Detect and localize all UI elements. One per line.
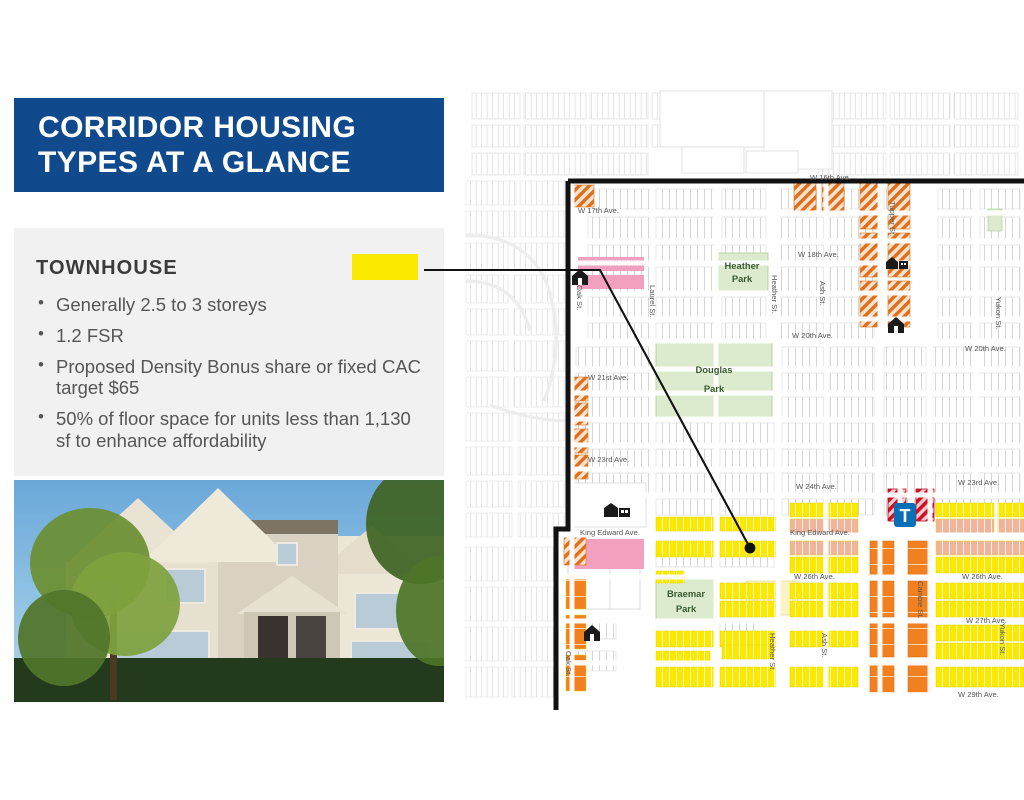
slide-root: CORRIDOR HOUSING TYPES AT A GLANCE TOWNH… — [0, 0, 1024, 800]
street-label: Yukon St. — [994, 297, 1003, 330]
title-line-2: TYPES AT A GLANCE — [38, 145, 444, 180]
left-info-panel: CORRIDOR HOUSING TYPES AT A GLANCE TOWNH… — [0, 0, 452, 800]
street-label: W 26th Ave. — [794, 572, 835, 581]
parcel-townhouse — [936, 503, 994, 517]
map-canvas: W 16th Ave. W 17th Ave. W 18th Ave. W 20… — [460, 85, 1024, 710]
townhouse-photo — [14, 480, 444, 702]
parcel-townhouse — [936, 557, 1024, 573]
street-label: Heather St. — [768, 633, 777, 671]
parcel-townhouse — [720, 667, 776, 687]
parcel-salmon — [936, 541, 1024, 555]
map-west-subdivision — [466, 181, 568, 697]
parcel-townhouse — [998, 503, 1024, 517]
bullet-item: 1.2 FSR — [36, 325, 422, 347]
street-label: King Edward Ave. — [580, 528, 640, 537]
park-label-douglas: Park — [704, 383, 725, 394]
parcel-townhouse — [656, 541, 714, 557]
photo-porch-roof — [236, 576, 348, 614]
parcel-townhouse — [656, 631, 714, 647]
street-label: W 29th Ave. — [958, 690, 999, 699]
street-label: Yukon St. — [998, 623, 1007, 656]
transit-station-label: T — [900, 506, 911, 526]
title-line-1: CORRIDOR HOUSING — [38, 110, 444, 145]
street-label: King Edward Ave. — [790, 528, 850, 537]
park-label-braemar: Braemar — [667, 588, 705, 599]
street-label: W 18th Ave. — [798, 250, 839, 259]
site-school-kingedward — [568, 483, 646, 527]
street-label: Oak St. — [575, 285, 584, 310]
card-header: TOWNHOUSE — [36, 254, 422, 280]
map-institutional-blocks — [660, 91, 832, 173]
park-heather — [716, 253, 768, 291]
parcel-townhouse — [936, 583, 1024, 599]
parcel-townhouse — [720, 517, 776, 531]
photo-window — [276, 542, 298, 566]
bullet-item: Proposed Density Bonus share or fixed CA… — [36, 356, 422, 400]
street-label: Tupper St. — [888, 201, 897, 236]
parcel-townhouse — [720, 541, 776, 557]
street-label: Heather St. — [770, 275, 779, 313]
park-label-heather: Heather — [725, 260, 760, 271]
photo-gable-b — [142, 488, 294, 562]
parcel-townhouse — [720, 601, 776, 617]
street-label: W 24th Ave. — [796, 482, 837, 491]
card-title: TOWNHOUSE — [36, 254, 178, 278]
street-label: W 26th Ave. — [962, 572, 1003, 581]
title-banner: CORRIDOR HOUSING TYPES AT A GLANCE — [14, 98, 444, 192]
parcel-townhouse — [720, 583, 776, 599]
street-label: Cambie St. — [916, 581, 925, 619]
photo-window — [354, 592, 400, 630]
transit-station-icon: T — [894, 503, 916, 527]
parcel-townhouse — [656, 517, 714, 531]
bullet-item: 50% of floor space for units less than 1… — [36, 408, 422, 452]
parcel-salmon — [998, 519, 1024, 533]
parcel-townhouse — [720, 631, 776, 647]
legend-color-swatch — [352, 254, 418, 280]
study-area-map[interactable]: W 16th Ave. W 17th Ave. W 18th Ave. W 20… — [460, 85, 1024, 710]
parcel-townhouse — [722, 645, 774, 659]
photo-tree-foliage — [18, 590, 110, 686]
park-label-heather: Park — [732, 273, 753, 284]
parcel-lowrise — [566, 575, 586, 609]
parcel-townhouse — [656, 667, 714, 687]
street-label: W 23rd Ave. — [958, 478, 999, 487]
street-label: W 20th Ave. — [965, 344, 1006, 353]
park-label-douglas: Douglas — [696, 364, 733, 375]
street-label: Ash St. — [818, 281, 827, 305]
parcel-hatched — [564, 537, 586, 565]
street-label: W 17th Ave. — [578, 206, 619, 215]
parcel-hatched — [794, 181, 816, 215]
street-label: W 20th Ave. — [792, 331, 833, 340]
parcel-salmon — [936, 519, 994, 533]
parcel-townhouse — [936, 667, 1024, 687]
street-label: W 23rd Ave. — [588, 455, 629, 464]
park-braemar — [656, 579, 716, 623]
street-label: W 21st Ave. — [588, 373, 628, 382]
street-label: Ash St. — [820, 633, 829, 657]
parcel-townhouse — [936, 601, 1024, 617]
card-bullet-list: Generally 2.5 to 3 storeys 1.2 FSR Propo… — [36, 294, 422, 452]
street-label: W 16th Ave. — [810, 173, 851, 182]
street-label: Oak St. — [564, 651, 573, 676]
parcel-townhouse — [936, 625, 1024, 641]
housing-type-card: TOWNHOUSE Generally 2.5 to 3 storeys 1.2… — [14, 228, 444, 476]
bullet-item: Generally 2.5 to 3 storeys — [36, 294, 422, 316]
street-label: Laurel St. — [648, 285, 657, 318]
park-label-braemar: Park — [676, 603, 697, 614]
parcel-townhouse — [936, 643, 1024, 659]
